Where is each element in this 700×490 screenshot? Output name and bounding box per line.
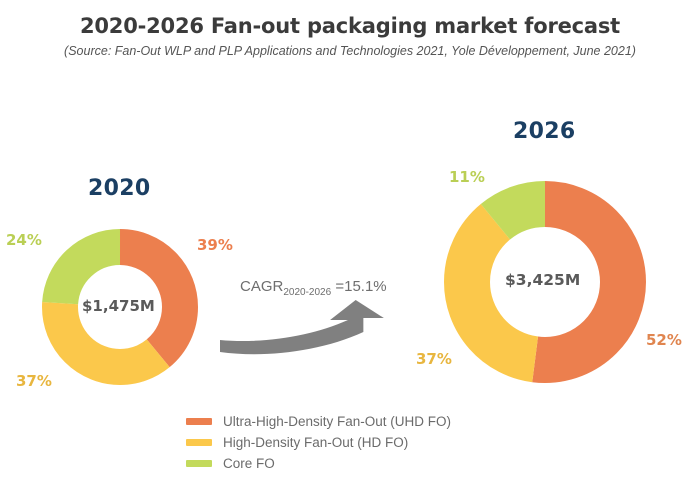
legend-swatch-core-fo xyxy=(186,460,212,467)
legend-item-uhd-fo[interactable]: Ultra-High-Density Fan-Out (UHD FO) xyxy=(186,411,451,432)
donut-2026-pct-core: 11% xyxy=(449,168,485,186)
donut-2020-pct-uhd: 39% xyxy=(197,236,233,254)
page-title: 2020-2026 Fan-out packaging market forec… xyxy=(0,0,700,38)
donut-2020-pct-core: 24% xyxy=(6,231,42,249)
donut-2026-center-value: $3,425M xyxy=(505,271,580,289)
curved-growth-arrow-icon xyxy=(212,296,392,358)
legend-item-core-fo[interactable]: Core FO xyxy=(186,453,451,474)
legend-label-core-fo: Core FO xyxy=(223,456,275,471)
chart-header: 2020-2026 Fan-out packaging market forec… xyxy=(0,0,700,58)
donut-2026-pct-uhd: 52% xyxy=(646,331,682,349)
legend-label-hd-fo: High-Density Fan-Out (HD FO) xyxy=(223,435,408,450)
legend-swatch-uhd-fo xyxy=(186,418,212,425)
donut-2020-center-value: $1,475M xyxy=(82,297,155,315)
legend: Ultra-High-Density Fan-Out (UHD FO) High… xyxy=(186,411,451,474)
cagr-value: =15.1% xyxy=(331,278,386,295)
cagr-annotation: CAGR2020-2026 =15.1% xyxy=(240,278,387,298)
cagr-label: CAGR xyxy=(240,278,283,295)
donut-2020-pct-hd: 37% xyxy=(16,372,52,390)
donut-heading-2020: 2020 xyxy=(88,176,150,201)
legend-swatch-hd-fo xyxy=(186,439,212,446)
chart-source-subtitle: (Source: Fan-Out WLP and PLP Application… xyxy=(0,38,700,58)
legend-label-uhd-fo: Ultra-High-Density Fan-Out (UHD FO) xyxy=(223,414,451,429)
legend-item-hd-fo[interactable]: High-Density Fan-Out (HD FO) xyxy=(186,432,451,453)
donut-heading-2026: 2026 xyxy=(513,119,575,144)
donut-2026-pct-hd: 37% xyxy=(416,350,452,368)
